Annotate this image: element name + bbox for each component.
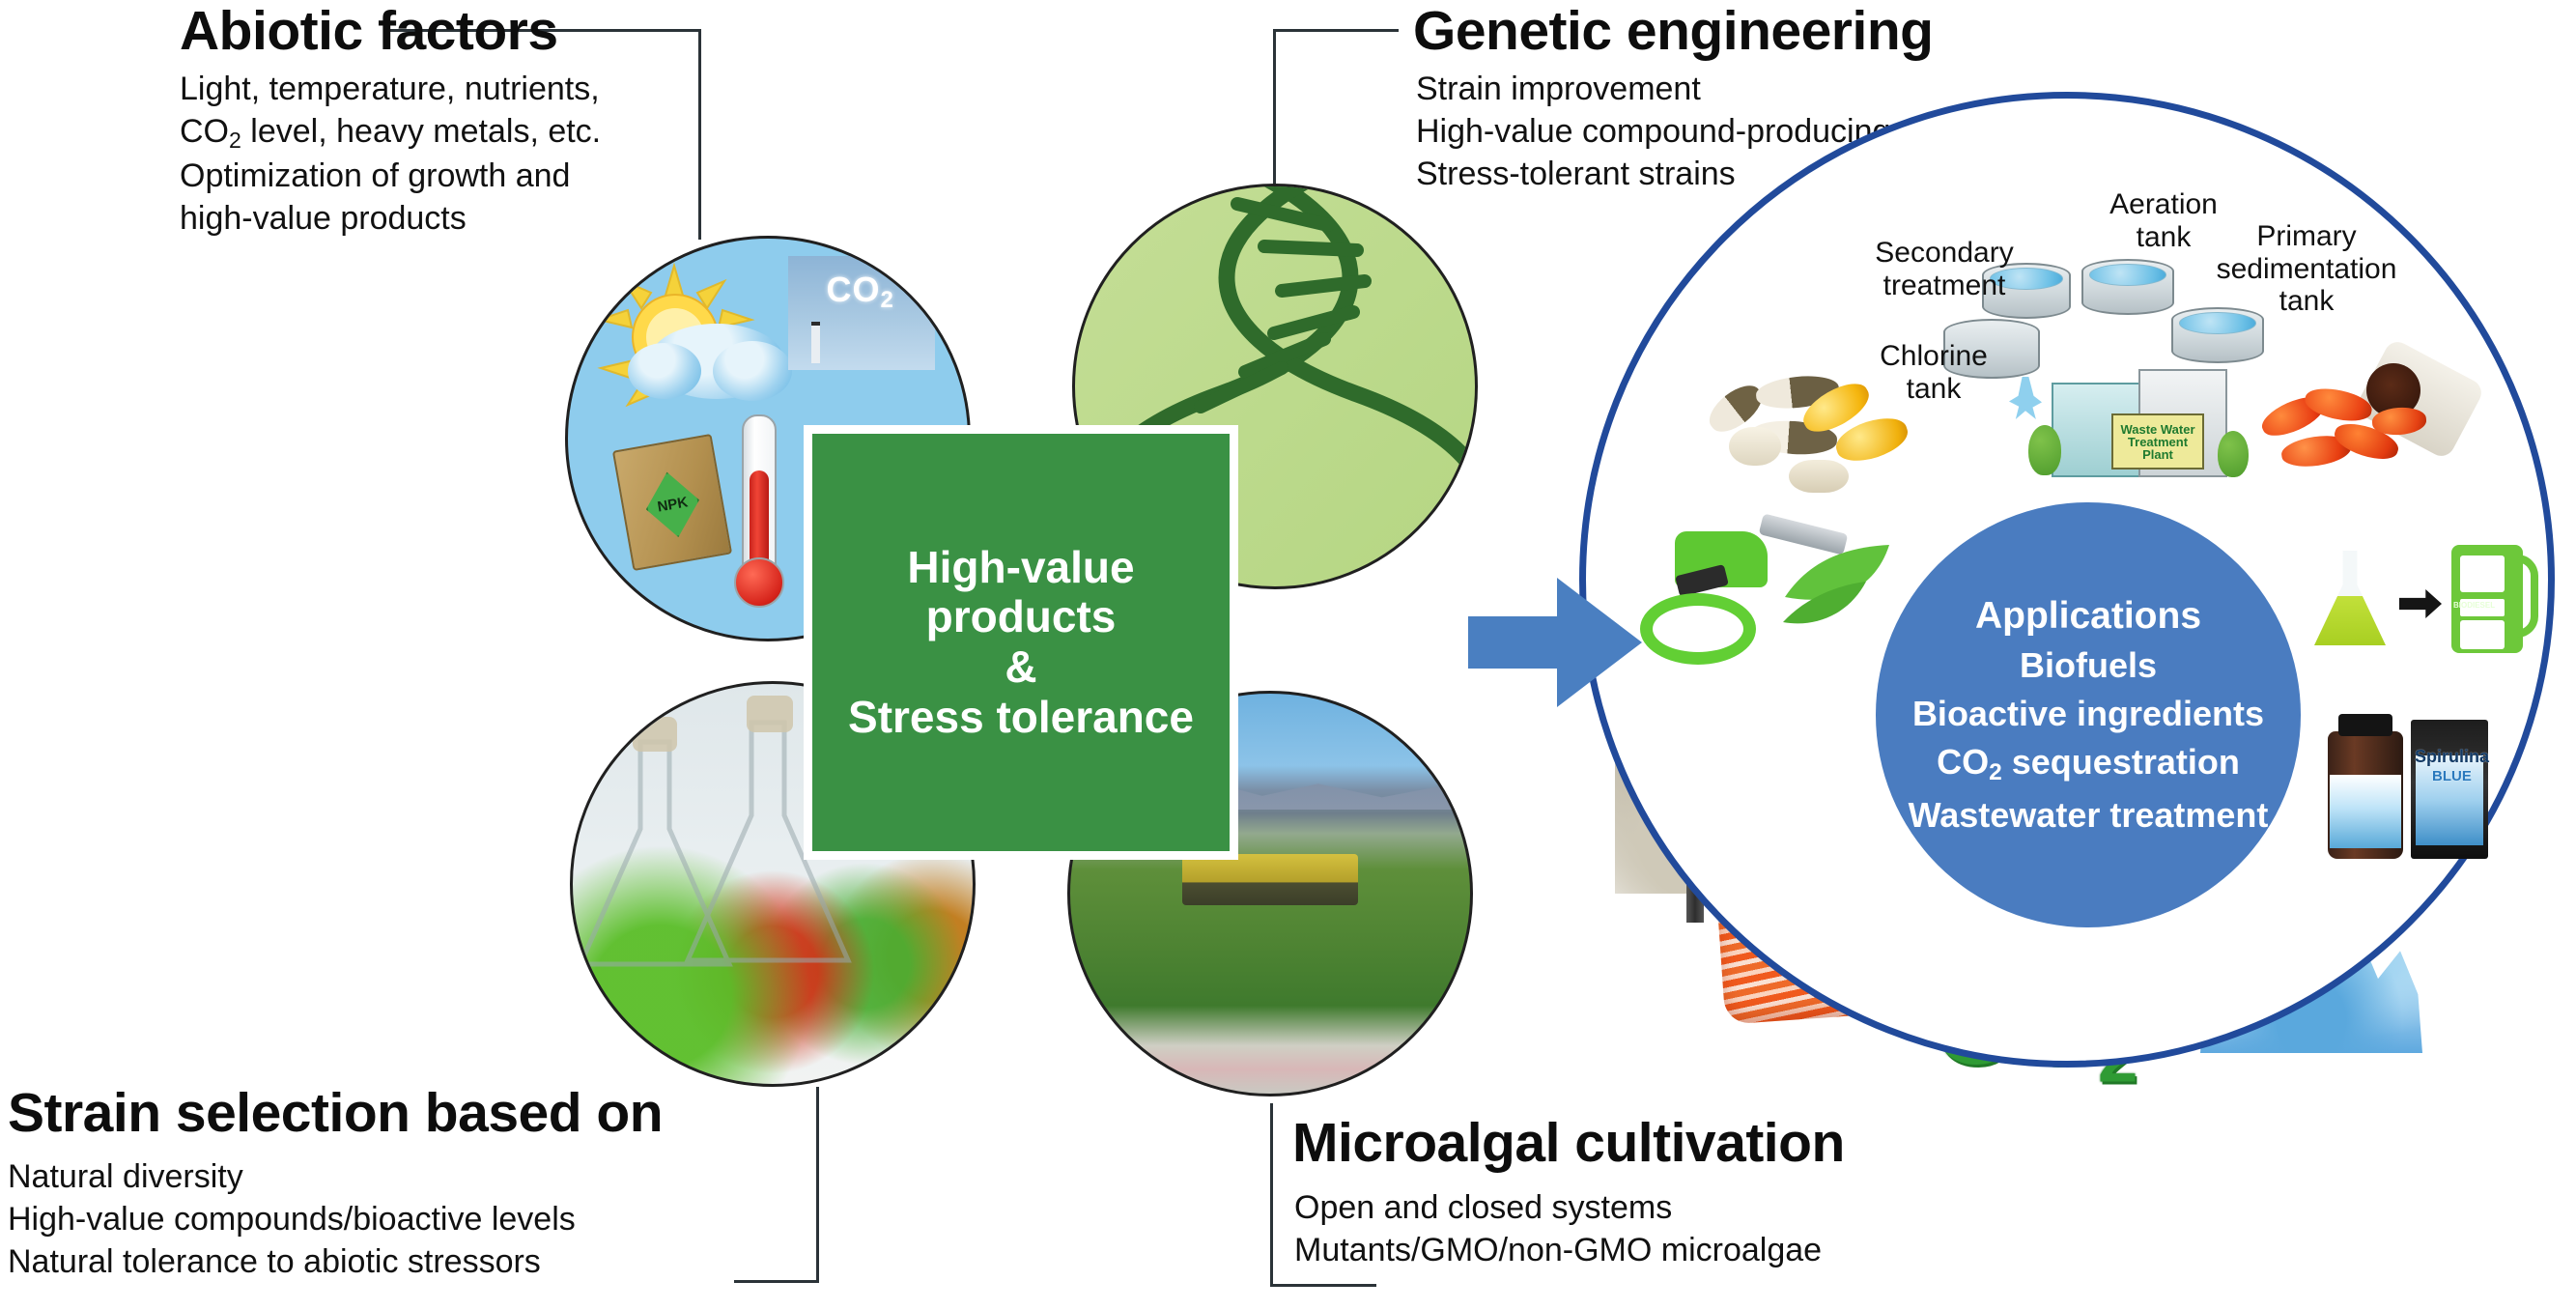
co2-suffix: sequestration [2002, 742, 2240, 782]
heading-strain-selection: Strain selection based on [8, 1086, 663, 1141]
abiotic-line-2: CO2 level, heavy metals, etc. [180, 110, 601, 155]
biodiesel-pump-label: BIODIESEL [2453, 601, 2495, 610]
body-microalgal-cultivation: Open and closed systems Mutants/GMO/non-… [1294, 1186, 1822, 1271]
abiotic-line-4: high-value products [180, 197, 601, 240]
primary-sed-line2: sedimentation [2171, 253, 2442, 286]
spirulina-variant-text: BLUE [2432, 768, 2472, 784]
cultivation-line-2: Mutants/GMO/non-GMO microalgae [1294, 1229, 1822, 1271]
spirulina-brand-text: Spirulina [2415, 747, 2489, 767]
strain-line-1: Natural diversity [8, 1155, 576, 1198]
waste-water-treatment-plant-sign: Waste Water Treatment Plant [2111, 413, 2204, 470]
cloud-icon-lobe [628, 343, 701, 399]
centre-line-4: Stress tolerance [812, 693, 1230, 743]
npk-fertilizer-bag-icon: NPK [612, 434, 732, 571]
bottle-label [2330, 775, 2402, 849]
cultivation-line-1: Open and closed systems [1294, 1186, 1822, 1229]
application-item-wastewater-treatment: Wastewater treatment [1909, 791, 2269, 840]
body-abiotic-factors: Light, temperature, nutrients, CO2 level… [180, 68, 601, 240]
heading-genetic-engineering: Genetic engineering [1413, 4, 1933, 59]
aeration-tank-line1: Aeration [2077, 188, 2250, 221]
spirulina-blue-supplement: Spirulina BLUE [2316, 710, 2519, 879]
spirulina-bottle [2328, 731, 2403, 859]
centre-summary-box: High-value products & Stress tolerance [804, 425, 1238, 860]
connector-line-bottom-left-vertical [816, 1087, 819, 1283]
paddlewheel-icon [1182, 854, 1358, 906]
connector-line-top-left-vertical [698, 29, 701, 240]
pump-hose-icon [2517, 555, 2538, 638]
centre-line-3: & [812, 642, 1230, 693]
label-primary-sedimentation-tank: Primary sedimentation tank [2171, 220, 2442, 318]
tablet [1789, 460, 1849, 493]
algae-flask-icon [2314, 551, 2386, 645]
plant-sign-line1: Waste Water [2120, 423, 2194, 436]
secondary-treatment-line1: Secondary [1843, 237, 2046, 270]
application-item-bioactive-ingredients: Bioactive ingredients [1912, 690, 2264, 738]
plant-sign-line2: Treatment [2128, 436, 2188, 448]
npk-label: NPK [640, 468, 705, 542]
connector-line-bottom-right-horizontal [1270, 1284, 1376, 1287]
applications-inner-circle: Applications Biofuels Bioactive ingredie… [1876, 502, 2301, 927]
strain-line-2: High-value compounds/bioactive levels [8, 1198, 576, 1240]
heading-microalgal-cultivation: Microalgal cultivation [1292, 1116, 1845, 1171]
chlorine-tank-line2: tank [1847, 373, 2021, 406]
strain-line-3: Natural tolerance to abiotic stressors [8, 1240, 576, 1283]
flow-arrow-right [1468, 570, 1642, 715]
application-item-biofuels: Biofuels [2020, 641, 2157, 690]
heading-abiotic-factors: Abiotic factors [180, 4, 558, 59]
connector-line-top-right-horizontal [1273, 29, 1399, 32]
plant-sign-line3: Plant [2142, 448, 2173, 461]
figure-canvas: Abiotic factors Light, temperature, nutr… [0, 0, 2576, 1310]
conversion-arrow-icon [2399, 587, 2442, 620]
tablet [1729, 427, 1781, 466]
co2-sub: 2 [1989, 759, 2002, 785]
chlorine-tank-line1: Chlorine [1847, 340, 2021, 373]
centre-line-1: High-value [812, 543, 1230, 593]
bottle-cap [2338, 714, 2392, 737]
leaf-icon [1777, 539, 1893, 624]
fuel-hose-icon [1640, 593, 1756, 665]
body-strain-selection: Natural diversity High-value compounds/b… [8, 1155, 576, 1284]
connector-line-bottom-left-horizontal [734, 1280, 819, 1283]
thermometer-bulb [734, 557, 784, 608]
pump-panel [2460, 620, 2505, 648]
label-chlorine-tank: Chlorine tank [1847, 340, 2021, 405]
applications-title: Applications [1975, 590, 2201, 641]
aeration-tank [2081, 259, 2174, 315]
primary-sed-line3: tank [2171, 285, 2442, 318]
bush-icon-2 [2218, 431, 2249, 477]
connector-line-bottom-right-vertical [1270, 1103, 1273, 1287]
biodiesel-pump-icon [2451, 545, 2523, 653]
biofuel-pump-nozzle-leaves [1632, 510, 1893, 694]
application-item-co2-sequestration: CO2 sequestration [1937, 738, 2240, 792]
label-secondary-treatment: Secondary treatment [1843, 237, 2046, 301]
genetic-line-1: Strain improvement [1416, 68, 1996, 110]
centre-line-2: products [812, 592, 1230, 642]
secondary-treatment-line2: treatment [1843, 270, 2046, 302]
spirulina-box [2411, 720, 2488, 859]
cloud-icon-lobe2 [713, 341, 792, 401]
connector-line-top-right-vertical [1273, 29, 1276, 203]
biodiesel-flask-to-pump: BIODIESEL [2307, 541, 2548, 676]
co2-smokestack-photo: CO2 [788, 256, 935, 370]
astaxanthin-red-softgels [2250, 348, 2473, 522]
tank-water [2089, 264, 2166, 286]
pump-display [2460, 555, 2505, 592]
bush-icon [2028, 425, 2061, 475]
primary-sed-line1: Primary [2171, 220, 2442, 253]
chimney-icon [811, 322, 820, 362]
abiotic-line-3: Optimization of growth and [180, 155, 601, 197]
co2-prefix: CO [1937, 742, 1989, 782]
abiotic-line-1: Light, temperature, nutrients, [180, 68, 601, 110]
co2-photo-label: CO2 [827, 270, 894, 314]
